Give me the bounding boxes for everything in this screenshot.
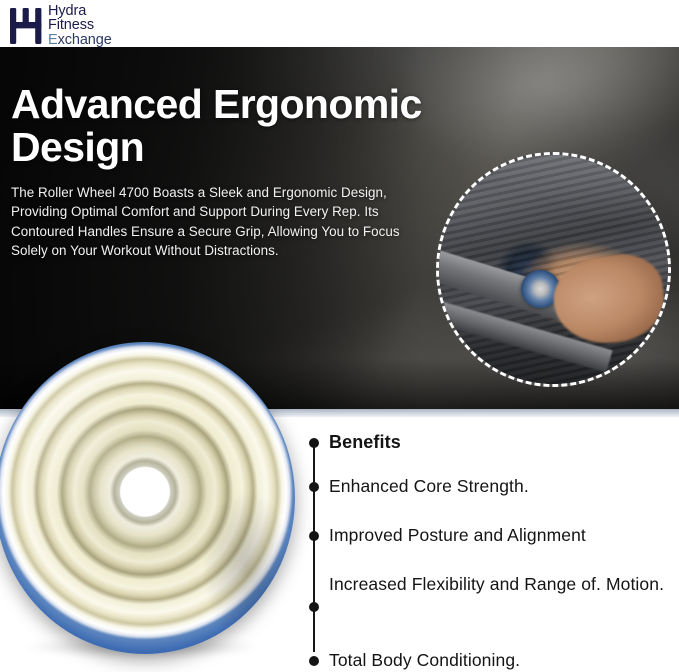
benefit-dot-2 <box>309 531 319 541</box>
header-bar: Hydra Fitness Exchange <box>0 0 679 47</box>
benefit-item-2: Improved Posture and Alignment <box>305 525 679 547</box>
product-wheel-sheen <box>0 342 295 654</box>
brand-logo-text: Hydra Fitness Exchange <box>48 4 112 47</box>
benefit-dot-1 <box>309 482 319 492</box>
hero-title: Advanced Ergonomic Design <box>11 83 441 170</box>
benefits-heading: Benefits <box>329 432 401 452</box>
benefit-item-4: Total Body Conditioning. <box>305 650 679 672</box>
logo-line-3-accent: E <box>48 32 58 48</box>
benefits-heading-dot <box>309 438 319 448</box>
hero-body-text: The Roller Wheel 4700 Boasts a Sleek and… <box>11 183 409 260</box>
logo-line-3: Exchange <box>48 33 112 47</box>
logo-line-2: Fitness <box>48 18 112 32</box>
benefits-heading-row: Benefits <box>305 432 679 453</box>
benefit-item-1: Enhanced Core Strength. <box>305 476 679 498</box>
inset-circular-photo <box>436 152 671 387</box>
benefit-label-1: Enhanced Core Strength. <box>329 476 529 496</box>
benefit-dot-3 <box>309 602 319 612</box>
benefits-timeline-line <box>313 442 315 652</box>
benefit-label-4: Total Body Conditioning. <box>329 650 520 670</box>
logo-line-3-rest: xchange <box>58 32 112 48</box>
product-roller-wheel-image <box>0 342 295 654</box>
benefit-item-3: Increased Flexibility and Range of. Moti… <box>305 574 679 596</box>
brand-logo[interactable]: Hydra Fitness Exchange <box>9 4 112 47</box>
hydra-fitness-exchange-logo-mark <box>9 7 43 45</box>
logo-line-1: Hydra <box>48 4 112 18</box>
benefit-label-2: Improved Posture and Alignment <box>329 525 586 545</box>
benefits-section: Benefits Enhanced Core Strength. Improve… <box>305 432 679 672</box>
hero-copy: Advanced Ergonomic Design The Roller Whe… <box>11 83 441 260</box>
benefit-dot-4 <box>309 656 319 666</box>
benefit-label-3: Increased Flexibility and Range of. Moti… <box>329 574 664 594</box>
